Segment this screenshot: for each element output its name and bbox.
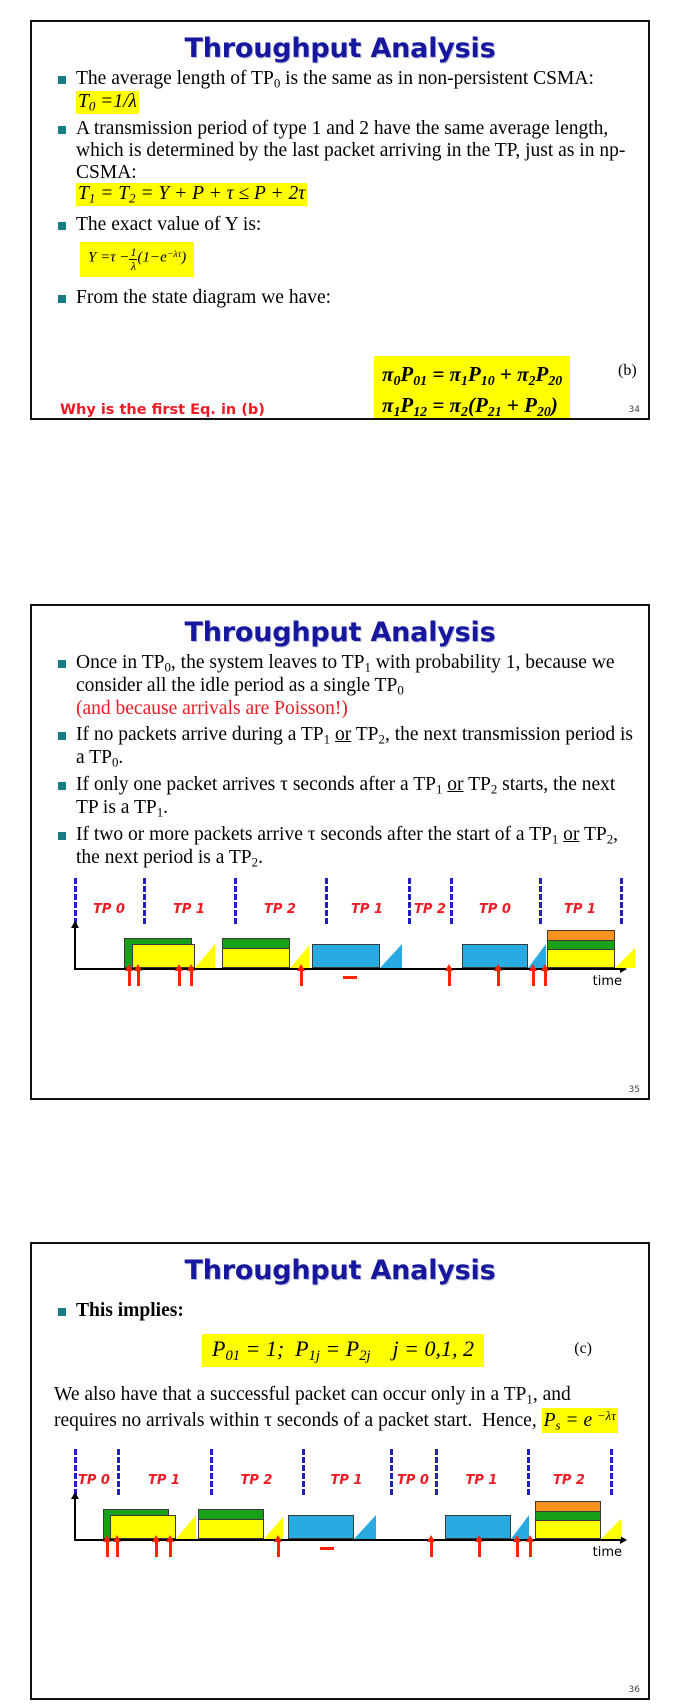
divider-dashed	[74, 1449, 77, 1495]
equation-row-c: P01 = 1; P1j = P2j j = 0,1, 2 (c)	[50, 1334, 636, 1367]
arrival-arrow	[300, 970, 303, 986]
page-title: Throughput Analysis	[32, 33, 648, 64]
list-item: If two or more packets arrive τ seconds …	[50, 824, 636, 870]
packet-tail-triangle	[601, 1519, 621, 1539]
timing-diagram: TP 0 TP 1 TP 2 TP 1 TP 0 TP 1 TP 2	[50, 1447, 636, 1565]
list-item: From the state diagram we have:	[50, 287, 366, 309]
arrival-arrow	[532, 970, 535, 986]
packet-block-blue	[288, 1515, 354, 1539]
timing-diagram: TP 0 TP 1 TP 2 TP 1 TP 0 TP 1 TP 2	[50, 876, 636, 994]
equation-line-1: π0P01 = π1P10 + π2P20	[382, 360, 562, 391]
list-item: A transmission period of type 1 and 2 ha…	[50, 118, 636, 206]
equation-label-b: (b)	[618, 362, 637, 380]
bullet-list: This implies:	[50, 1300, 636, 1322]
page-title: Throughput Analysis	[32, 617, 648, 648]
page-number: 34	[629, 405, 640, 415]
packet-block-yellow	[198, 1519, 264, 1539]
axis-label-time: time	[593, 974, 622, 989]
slide-body: Once in TP0, the system leaves to TP1 wi…	[32, 652, 648, 994]
page-title: Throughput Analysis	[32, 1255, 648, 1286]
page-number: 36	[629, 1685, 640, 1695]
arrival-arrow	[430, 1541, 433, 1557]
value-axis	[74, 1499, 76, 1541]
divider-dashed	[234, 878, 237, 924]
divider-dashed	[117, 1449, 120, 1495]
arrival-arrow	[178, 970, 181, 986]
arrival-arrow	[169, 1541, 172, 1557]
packet-block-blue	[312, 944, 380, 968]
arrival-arrow	[516, 1541, 519, 1557]
packet-block-yellow	[547, 949, 615, 968]
explanatory-paragraph: We also have that a successful packet ca…	[54, 1383, 630, 1433]
divider-dashed	[610, 1449, 613, 1495]
period-label: TP 1	[119, 1473, 209, 1488]
period-label: TP 1	[541, 902, 619, 917]
period-label: TP 2	[410, 902, 450, 917]
period-label: TP 1	[327, 902, 407, 917]
arrival-arrow	[106, 1541, 109, 1557]
period-label: TP 2	[236, 902, 324, 917]
question-note: Why is the first Eq. in (b) correct?	[60, 402, 310, 420]
divider-dashed	[620, 878, 623, 924]
page-number: 35	[629, 1085, 640, 1095]
arrival-arrow	[529, 1541, 532, 1557]
packet-block-yellow	[535, 1520, 601, 1539]
packet-tail-triangle	[380, 944, 402, 968]
equation-ps: Ps = e −λτ	[542, 1408, 618, 1434]
divider-dashed	[527, 1449, 530, 1495]
idle-dash-marker	[320, 1547, 334, 1550]
divider-dashed	[539, 878, 542, 924]
divider-dashed	[408, 878, 411, 924]
divider-dashed	[302, 1449, 305, 1495]
slide-body: The average length of TP0 is the same as…	[32, 68, 648, 308]
list-item: The average length of TP0 is the same as…	[50, 68, 636, 114]
slide-35: Throughput Analysis Once in TP0, the sys…	[30, 604, 650, 1100]
period-label: TP 1	[145, 902, 233, 917]
arrival-arrow	[190, 970, 193, 986]
arrival-arrow	[155, 1541, 158, 1557]
slide-body: This implies: P01 = 1; P1j = P2j j = 0,1…	[32, 1300, 648, 1565]
arrival-arrow	[544, 970, 547, 986]
list-item: The exact value of Y is: Y =τ −1λ(1−e−λτ…	[50, 214, 636, 276]
period-label: TP 2	[212, 1473, 301, 1488]
packet-tail-triangle	[615, 948, 635, 968]
idle-dash-marker	[343, 976, 357, 979]
arrival-arrow	[277, 1541, 280, 1557]
divider-dashed	[435, 1449, 438, 1495]
period-label: TP 1	[304, 1473, 389, 1488]
divider-dashed	[390, 1449, 393, 1495]
period-label: TP 0	[452, 902, 538, 917]
time-axis	[74, 968, 620, 970]
list-item: This implies:	[50, 1300, 636, 1322]
period-label: TP 0	[76, 902, 142, 917]
bullet-list: The average length of TP0 is the same as…	[50, 68, 636, 308]
list-item: If no packets arrive during a TP1 or TP2…	[50, 724, 636, 770]
divider-dashed	[450, 878, 453, 924]
handout-page: Throughput Analysis The average length o…	[0, 0, 682, 1708]
period-label: TP 1	[437, 1473, 526, 1488]
equation-group-b: π0P01 = π1P10 + π2P20 π1P12 = π2(P21 + P…	[374, 356, 570, 420]
equation-y: Y =τ −1λ(1−e−λτ)	[80, 242, 194, 276]
packet-tail-triangle	[354, 1515, 376, 1539]
period-label: TP 2	[529, 1473, 609, 1488]
arrival-arrow	[128, 970, 131, 986]
packet-block-yellow	[222, 948, 290, 968]
period-label: TP 0	[70, 1473, 118, 1488]
equation-label-c: (c)	[574, 1340, 592, 1358]
equation-t1-t2: T1 = T2 = Y + P + τ ≤ P + 2τ	[76, 183, 307, 206]
value-axis	[74, 928, 76, 970]
arrival-arrow	[448, 970, 451, 986]
equation-c: P01 = 1; P1j = P2j j = 0,1, 2	[202, 1334, 484, 1367]
packet-tail-triangle	[195, 944, 215, 968]
axis-label-time: time	[593, 1545, 622, 1560]
slide-36: Throughput Analysis This implies: P01 = …	[30, 1242, 650, 1700]
slide-34: Throughput Analysis The average length o…	[30, 20, 650, 420]
arrival-arrow	[478, 1541, 481, 1557]
arrival-arrow	[116, 1541, 119, 1557]
arrival-arrow	[137, 970, 140, 986]
bullet-list: Once in TP0, the system leaves to TP1 wi…	[50, 652, 636, 870]
list-item: If only one packet arrives τ seconds aft…	[50, 774, 636, 820]
equation-t0: T0 =1/λ	[76, 91, 139, 114]
period-label: TP 0	[391, 1473, 435, 1488]
this-implies-label: This implies:	[76, 1300, 184, 1321]
divider-dashed	[143, 878, 146, 924]
poisson-note: (and because arrivals are Poisson!)	[76, 698, 348, 719]
packet-tail-triangle	[176, 1515, 196, 1539]
arrival-arrow	[497, 970, 500, 986]
equation-line-2: π1P12 = π2(P21 + P20)	[382, 391, 562, 420]
list-item: Once in TP0, the system leaves to TP1 wi…	[50, 652, 636, 720]
divider-dashed	[325, 878, 328, 924]
divider-dashed	[210, 1449, 213, 1495]
divider-dashed	[74, 878, 77, 924]
